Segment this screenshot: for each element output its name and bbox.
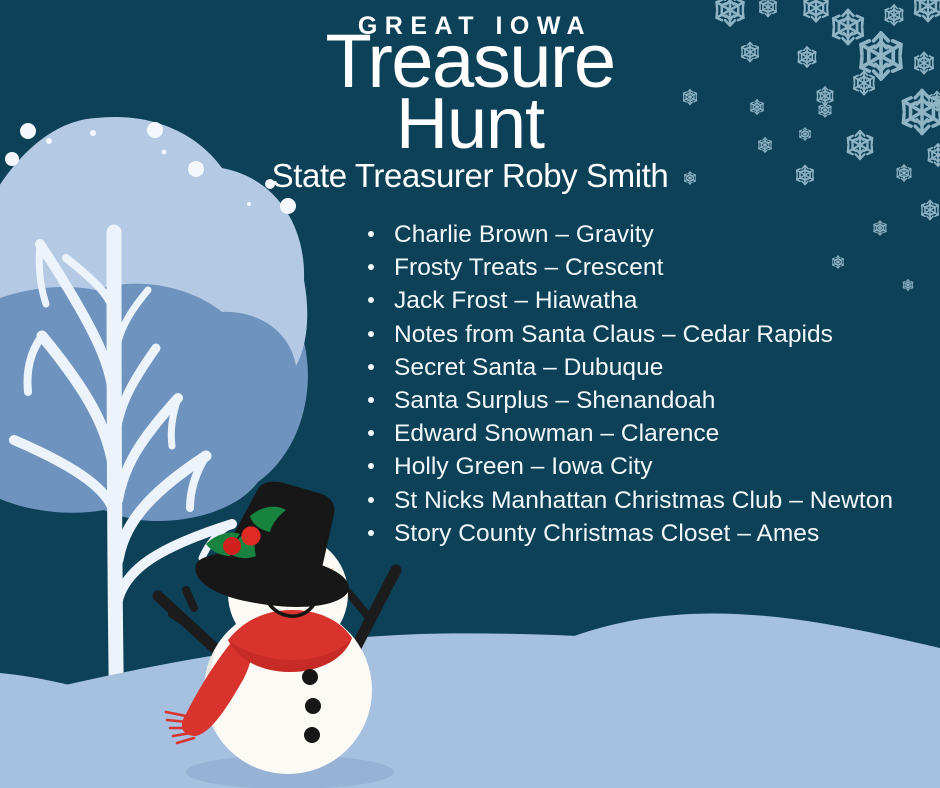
snowflake-icon bbox=[684, 90, 697, 105]
snowman-button bbox=[305, 698, 321, 714]
list-item-label: Secret Santa – Dubuque bbox=[394, 354, 663, 381]
holly-berry bbox=[241, 526, 260, 545]
snowflake-icon bbox=[742, 43, 758, 62]
snowflake-icon bbox=[759, 138, 771, 152]
snowflake-icon bbox=[848, 131, 872, 159]
snowflake-icon bbox=[817, 87, 833, 105]
bullet-icon bbox=[368, 463, 374, 469]
snowflake-icon bbox=[798, 47, 815, 67]
snowflake-icon bbox=[833, 10, 862, 44]
snowflake-icon bbox=[751, 100, 763, 114]
bullet-icon bbox=[368, 297, 374, 303]
list-item-label: St Nicks Manhattan Christmas Club – Newt… bbox=[394, 487, 893, 514]
snowflake-icon bbox=[685, 172, 696, 184]
bullet-icon bbox=[368, 231, 374, 237]
snowflake-icon bbox=[854, 72, 874, 95]
list-item: Jack Frost – Hiawatha bbox=[365, 284, 925, 317]
list-item: Charlie Brown – Gravity bbox=[365, 218, 925, 251]
holly-berry bbox=[223, 537, 241, 555]
list-item: Holly Green – Iowa City bbox=[365, 450, 925, 483]
bullet-icon bbox=[368, 364, 374, 370]
list-item-label: Edward Snowman – Clarence bbox=[394, 420, 719, 447]
list-item-label: Notes from Santa Claus – Cedar Rapids bbox=[394, 321, 833, 348]
list-item-label: Frosty Treats – Crescent bbox=[394, 254, 663, 281]
list-item-label: Story County Christmas Closet – Ames bbox=[394, 520, 819, 547]
bullet-icon bbox=[368, 530, 374, 536]
list-item: St Nicks Manhattan Christmas Club – Newt… bbox=[365, 484, 925, 517]
list-item: Frosty Treats – Crescent bbox=[365, 251, 925, 284]
bullet-icon bbox=[368, 497, 374, 503]
treasure-winner-list: Charlie Brown – GravityFrosty Treats – C… bbox=[365, 218, 925, 550]
snowflake-icon bbox=[897, 165, 911, 181]
list-item: Notes from Santa Claus – Cedar Rapids bbox=[365, 318, 925, 351]
list-item-label: Santa Surplus – Shenandoah bbox=[394, 387, 715, 414]
list-item-label: Charlie Brown – Gravity bbox=[394, 221, 654, 248]
list-item-label: Holly Green – Iowa City bbox=[394, 453, 653, 480]
bullet-icon bbox=[368, 430, 374, 436]
snowman-button bbox=[304, 727, 320, 743]
bullet-icon bbox=[368, 397, 374, 403]
list-item: Edward Snowman – Clarence bbox=[365, 417, 925, 450]
poster-canvas: GREAT IOWA Treasure Hunt State Treasurer… bbox=[0, 0, 940, 788]
list-item: Story County Christmas Closet – Ames bbox=[365, 517, 925, 550]
snowflake-icon bbox=[915, 53, 933, 74]
snowflake-icon bbox=[922, 201, 938, 220]
snowman-button bbox=[302, 669, 318, 685]
snowflake-icon bbox=[797, 166, 813, 185]
bullet-icon bbox=[368, 331, 374, 337]
list-item: Santa Surplus – Shenandoah bbox=[365, 384, 925, 417]
snowflake-icon bbox=[861, 33, 901, 79]
snowflake-icon bbox=[819, 103, 831, 117]
list-item: Secret Santa – Dubuque bbox=[365, 351, 925, 384]
snowflake-icon bbox=[885, 5, 902, 25]
snowflake-icon bbox=[800, 128, 811, 140]
list-item-label: Jack Frost – Hiawatha bbox=[394, 287, 637, 314]
bullet-icon bbox=[368, 264, 374, 270]
